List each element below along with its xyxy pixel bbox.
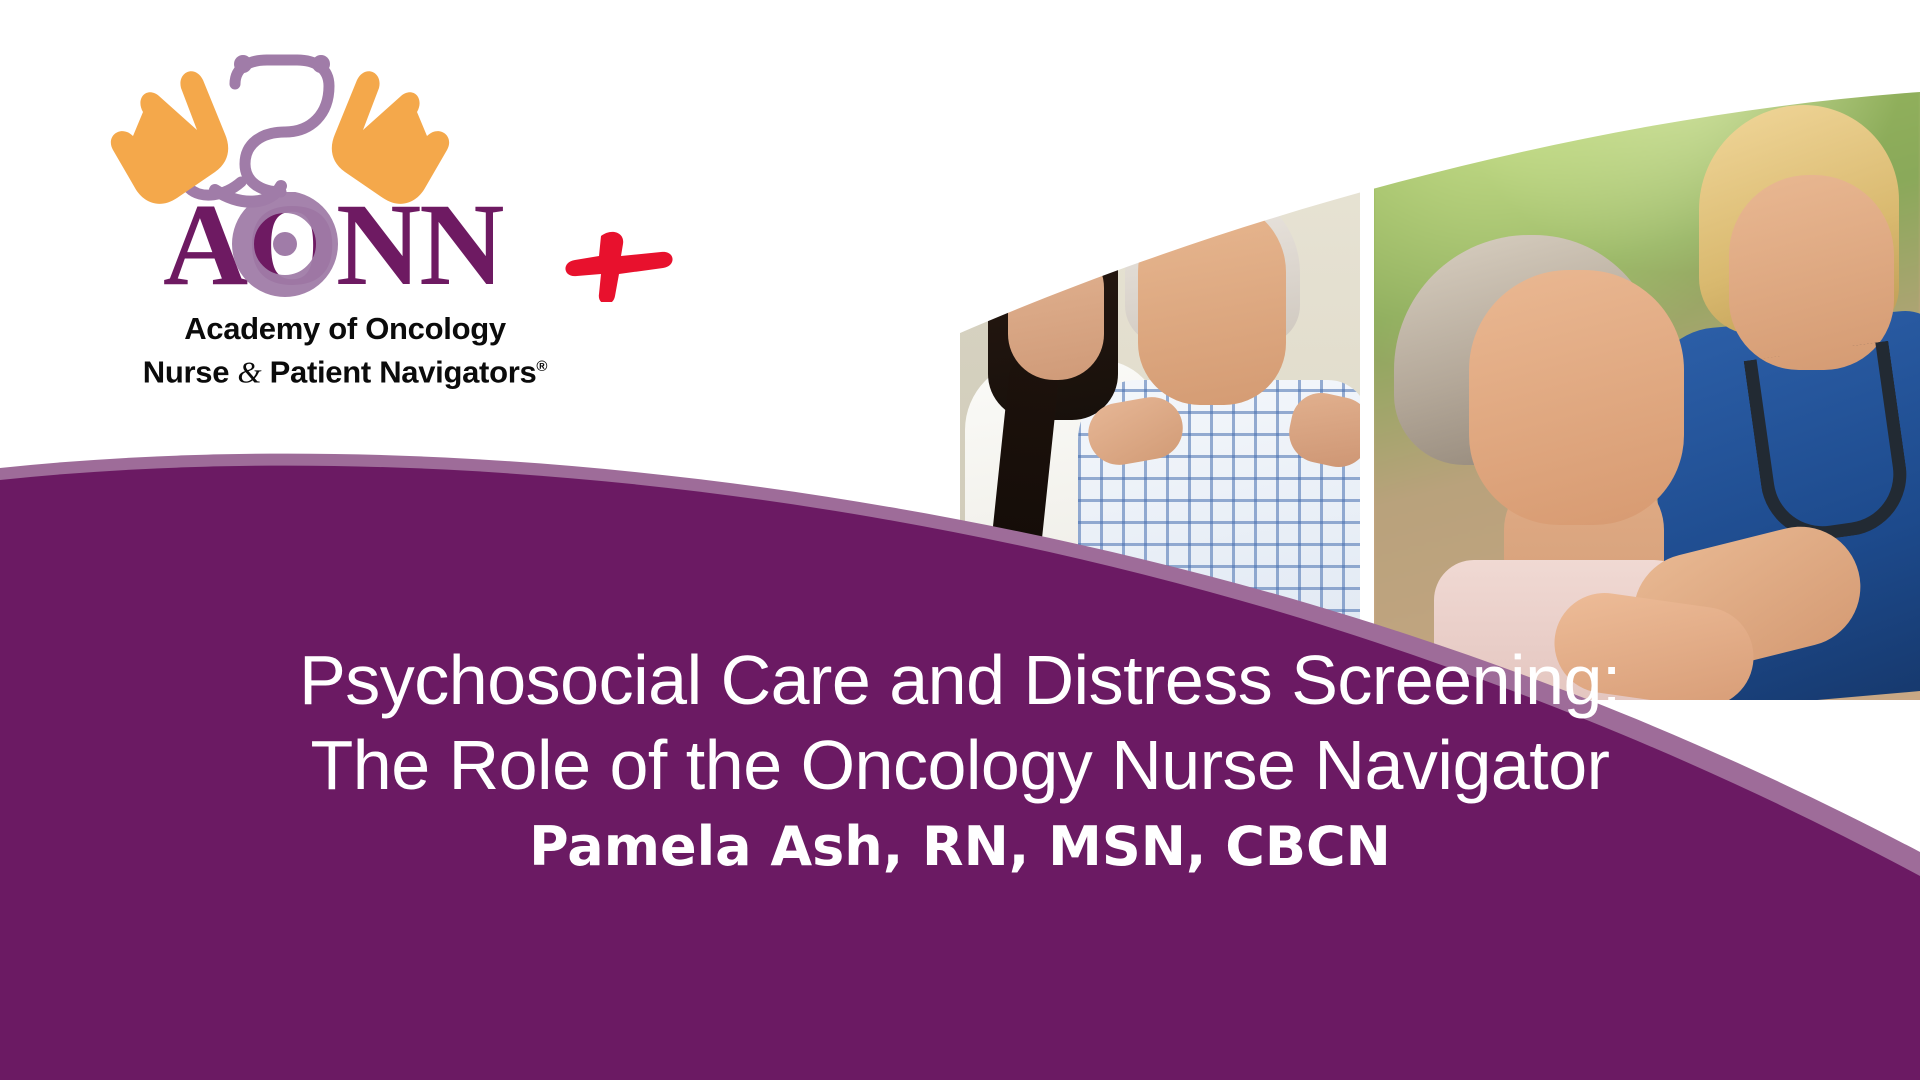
man-face (1138, 200, 1286, 405)
tagline-line2-after: Patient Navigators (261, 354, 536, 389)
tagline-line2-before: Nurse (143, 354, 238, 389)
stethoscope-earpiece-right (312, 55, 330, 73)
logo-spiral-center (273, 232, 297, 256)
logo-tagline-line2: Nurse & Patient Navigators® (85, 348, 605, 391)
nurse-face (1729, 175, 1894, 370)
stethoscope-earpiece-left (234, 55, 252, 73)
registered-trademark-symbol: ® (536, 358, 547, 375)
medical-cross-icon (565, 232, 672, 302)
photo-band (960, 0, 1920, 700)
logo-wordmark: AONN (163, 192, 703, 302)
aonn-logo: AONN Academy of Oncology Nurse & Patient… (85, 52, 705, 382)
logo-tagline: Academy of Oncology Nurse & Patient Navi… (85, 310, 605, 391)
photo-nurse-and-elderly-man (960, 0, 1360, 700)
photo-divider (1360, 0, 1374, 700)
page-title-line-1: Psychosocial Care and Distress Screening… (0, 638, 1920, 723)
presenter-name: Pamela Ash, RN, MSN, CBCN (0, 816, 1920, 878)
woman-face (1469, 270, 1684, 525)
title-slide: AONN Academy of Oncology Nurse & Patient… (0, 0, 1920, 1080)
tagline-ampersand: & (237, 354, 261, 389)
page-title-line-2: The Role of the Oncology Nurse Navigator (0, 723, 1920, 808)
logo-tagline-line1: Academy of Oncology (85, 310, 605, 348)
photo-nurse-and-elderly-woman (1374, 0, 1920, 700)
nurse-face (1008, 240, 1104, 380)
title-block: Psychosocial Care and Distress Screening… (0, 638, 1920, 878)
